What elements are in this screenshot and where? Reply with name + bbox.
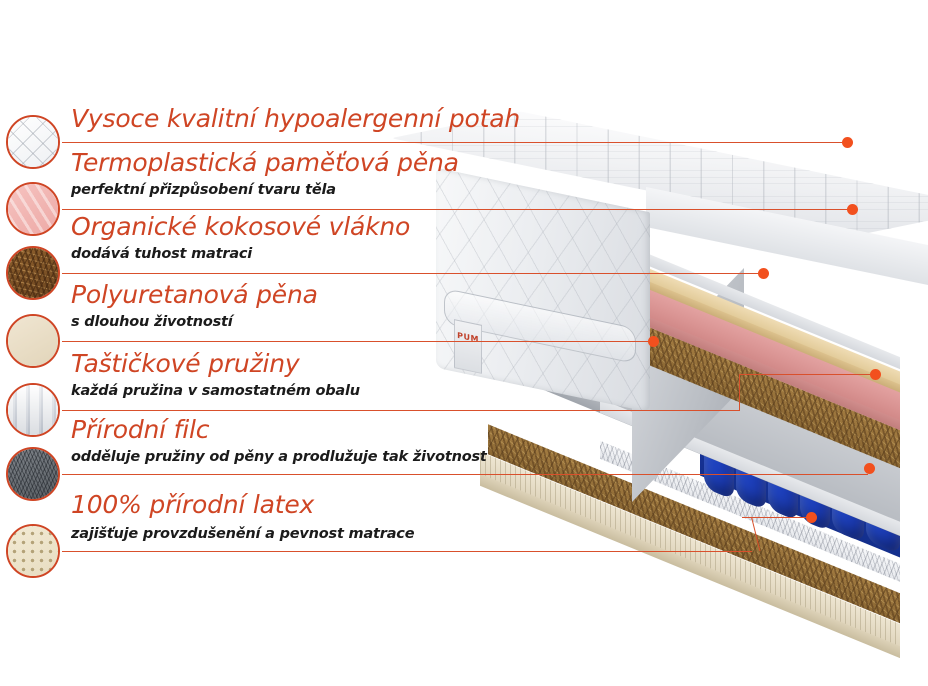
- layer-legend: Vysoce kvalitní hypoalergenní potah Term…: [0, 0, 928, 686]
- infographic-canvas: PUM Vysoce kvalitní hypoa: [0, 0, 928, 686]
- legend-subtitle-pocket-springs: každá pružina v samostatném obalu: [71, 383, 360, 399]
- legend-title-pocket-springs: Taštičkové pružiny: [71, 349, 299, 378]
- natural-felt-swatch-icon: [6, 447, 60, 501]
- natural-latex-swatch-icon: [6, 524, 60, 578]
- legend-title-pu-foam: Polyuretanová pěna: [71, 280, 318, 309]
- legend-subtitle-memory-foam: perfektní přizpůsobení tvaru těla: [71, 182, 336, 198]
- legend-title-memory-foam: Termoplastická paměťová pěna: [71, 148, 459, 177]
- legend-subtitle-latex: zajišťuje provzdušenění a pevnost matrac…: [71, 526, 414, 542]
- legend-title-cover: Vysoce kvalitní hypoalergenní potah: [71, 104, 520, 133]
- legend-title-coconut: Organické kokosové vlákno: [71, 212, 410, 241]
- pocket-spring-swatch-icon: [6, 383, 60, 437]
- quilted-cover-swatch-icon: [6, 115, 60, 169]
- legend-subtitle-felt: odděluje pružiny od pěny a prodlužuje ta…: [71, 449, 487, 465]
- legend-subtitle-pu-foam: s dlouhou životností: [71, 314, 233, 330]
- polyurethane-foam-swatch-icon: [6, 314, 60, 368]
- coconut-fibre-swatch-icon: [6, 246, 60, 300]
- legend-subtitle-coconut: dodává tuhost matraci: [71, 246, 252, 262]
- legend-title-latex: 100% přírodní latex: [71, 490, 314, 519]
- legend-title-felt: Přírodní filc: [71, 415, 209, 444]
- memory-foam-swatch-icon: [6, 182, 60, 236]
